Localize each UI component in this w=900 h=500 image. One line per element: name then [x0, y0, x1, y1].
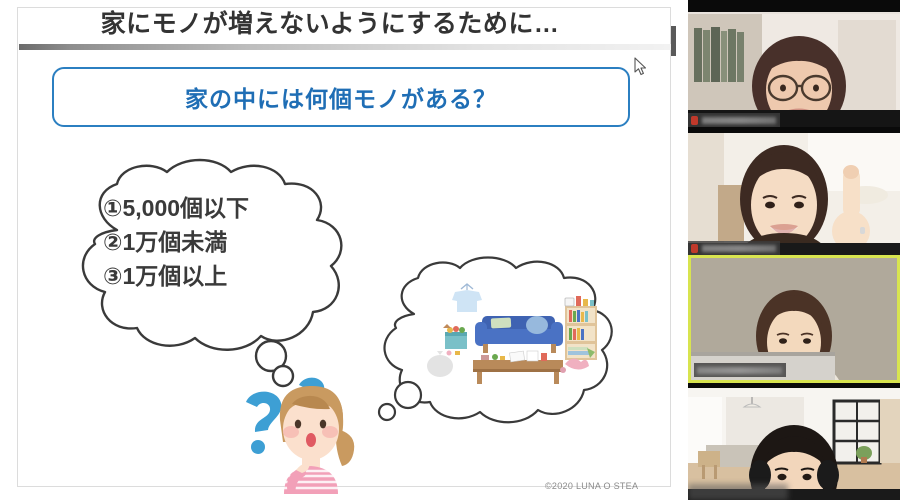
hanging-shirt-icon	[452, 284, 482, 312]
mic-muted-icon	[691, 244, 698, 253]
question-text: 家の中には何個モノがある？	[185, 80, 497, 114]
video-tile-participant-2[interactable]	[688, 127, 900, 255]
participant-name-label	[702, 117, 776, 124]
copyright-text: ©2020 LUNA O STEA	[545, 481, 638, 491]
slide-title: 家にモノが増えないようにするために…	[30, 8, 630, 40]
question-box: 家の中には何個モノがある？	[52, 67, 630, 127]
participant-name-label	[688, 484, 788, 500]
low-table-icon	[473, 351, 563, 384]
title-divider-cap	[671, 26, 676, 56]
toy-box-icon	[443, 324, 467, 356]
bean-bag-icon	[427, 355, 453, 377]
option-item-2: ②1万個未満	[103, 225, 249, 259]
cluttered-room-illustration	[415, 278, 600, 388]
mouse-cursor-icon	[634, 57, 648, 77]
participant-name-bar	[688, 113, 780, 127]
question-mark-icon	[246, 392, 281, 454]
bookshelf-icon	[565, 296, 597, 360]
participant-name-label	[702, 245, 776, 252]
video-tile-participant-1[interactable]	[688, 0, 900, 127]
screen-share-window: 家にモノが増えないようにするために… 家の中には何個モノがある？ ①5,000個…	[0, 0, 900, 500]
participant-name-bar	[694, 363, 786, 377]
video-tile-participant-4[interactable]	[688, 383, 900, 500]
shared-slide-area: 家にモノが増えないようにするために… 家の中には何個モノがある？ ①5,000個…	[0, 0, 688, 500]
option-item-3: ③1万個以上	[103, 259, 249, 293]
participant-name-label	[697, 367, 782, 374]
title-divider-bar	[19, 44, 671, 50]
video-tile-participant-3[interactable]	[688, 255, 900, 383]
thinking-woman-illustration	[222, 372, 362, 494]
sofa-icon	[475, 316, 563, 353]
floor-clutter-icon	[565, 358, 589, 369]
mic-muted-icon	[691, 116, 698, 125]
option-item-1: ①5,000個以下	[103, 191, 249, 225]
participant-video-strip	[688, 0, 900, 500]
participant-name-bar	[688, 241, 780, 255]
options-list: ①5,000個以下 ②1万個未満 ③1万個以上	[103, 191, 249, 293]
